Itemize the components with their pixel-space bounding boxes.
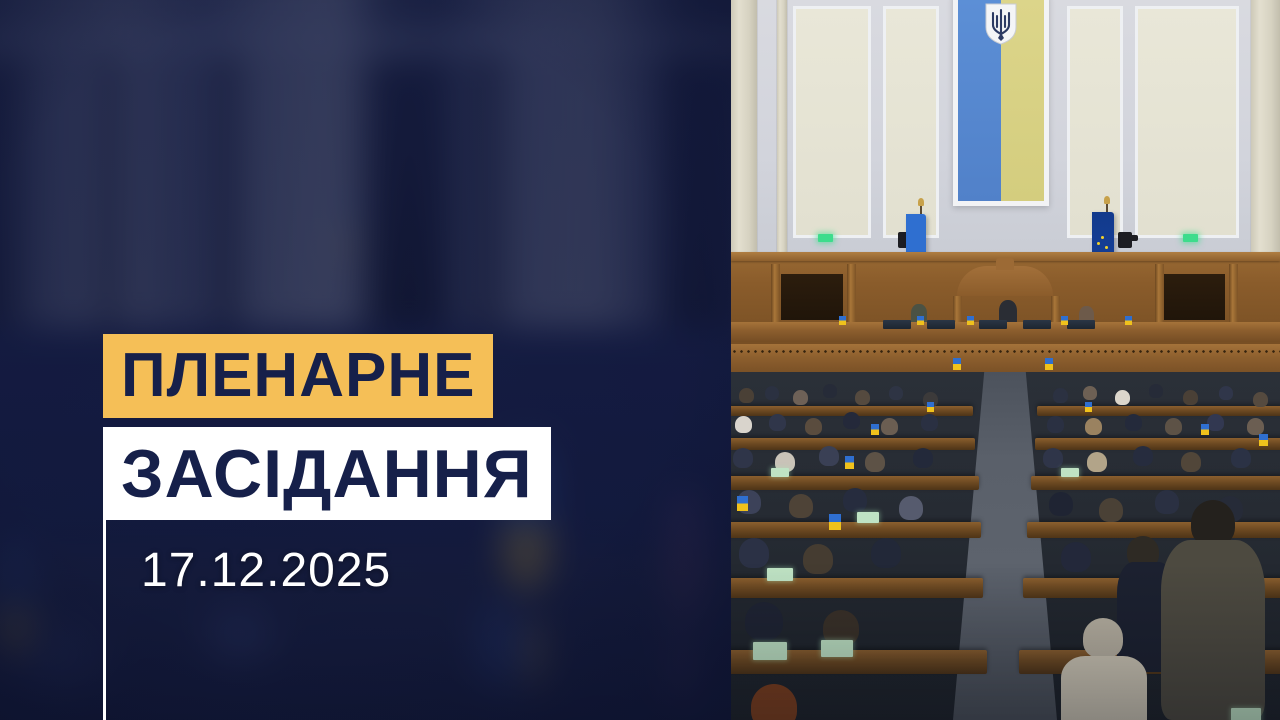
flag-finial [1104, 196, 1110, 204]
deputy-body [1061, 656, 1147, 720]
deputy [1125, 414, 1142, 431]
deputy [921, 414, 938, 431]
camera-icon [1118, 232, 1132, 248]
wall-pilaster [777, 0, 787, 258]
deputy [881, 418, 898, 435]
deputy [739, 388, 754, 403]
deputy [1183, 390, 1198, 405]
deputy-body [1161, 540, 1265, 720]
wall-panel [1067, 6, 1123, 238]
deputy [1049, 492, 1073, 516]
desk-mini-flag [829, 514, 841, 530]
deputy [1149, 384, 1163, 398]
deputy [769, 414, 786, 431]
deputy [865, 452, 885, 472]
deputy [1047, 416, 1064, 433]
deputy [1083, 618, 1123, 658]
desk-mini-flag [927, 402, 934, 412]
deputy [735, 416, 752, 433]
deputy [871, 538, 901, 568]
rostrum-arch [957, 266, 1053, 296]
deputy [855, 390, 870, 405]
desk-screen [1231, 708, 1261, 720]
deputy [1207, 414, 1224, 431]
deputy [1053, 388, 1068, 403]
desk-monitor [1023, 320, 1051, 329]
rostrum-column [1229, 264, 1238, 324]
wall-pilaster [1251, 0, 1280, 258]
deputy [1043, 448, 1063, 468]
deputy [843, 488, 867, 512]
rostrum-woodwork [731, 252, 1280, 377]
deputy [751, 684, 797, 720]
wall-panel [793, 6, 871, 238]
desk-mini-flag [1201, 424, 1209, 435]
desk-mini-flag [967, 316, 974, 325]
left-blurred-hall-image [0, 0, 731, 720]
desk-mini-flag [1061, 316, 1068, 325]
title-card: ПЛЕНАРНЕ ЗАСІДАННЯ 17.12.2025 [0, 0, 1280, 720]
deputy [843, 412, 860, 429]
deputy [1247, 418, 1264, 435]
deputy [739, 538, 769, 568]
deputy [1085, 418, 1102, 435]
rostrum-column [1155, 264, 1164, 324]
deputy [823, 384, 837, 398]
rostrum-bay [1163, 274, 1225, 320]
desk-monitor [927, 320, 955, 329]
bench-row [1027, 522, 1280, 538]
wall-panel [883, 6, 939, 238]
vignette-overlay [0, 0, 731, 720]
desk-mini-flag [917, 316, 924, 325]
deputy [733, 448, 753, 468]
deputy [1181, 452, 1201, 472]
deputy [1155, 490, 1179, 514]
desk-mini-flag [871, 424, 879, 435]
arch-keystone [996, 258, 1014, 270]
right-chamber-image [731, 0, 1280, 720]
wall-pilaster [731, 0, 757, 258]
desk-mini-flag [845, 456, 854, 469]
deputy [1099, 498, 1123, 522]
desk-screen [857, 512, 879, 523]
bench-row [731, 438, 975, 450]
bench-row [731, 578, 983, 598]
deputy [1133, 446, 1153, 466]
deputy [803, 544, 833, 574]
desk-mini-flag [1125, 316, 1132, 325]
deputy [1061, 542, 1091, 572]
desk-screen [771, 468, 789, 477]
deputy [899, 496, 923, 520]
deputy [789, 494, 813, 518]
bench-row [731, 522, 981, 538]
exit-sign-icon [818, 234, 833, 242]
deputy [1219, 386, 1233, 400]
exit-sign-icon [1183, 234, 1198, 242]
deputy [805, 418, 822, 435]
desk-mini-flag [953, 358, 961, 370]
desk-monitor [883, 320, 911, 329]
deputy [745, 602, 783, 640]
deputy [889, 386, 903, 400]
ukraine-vertical-flag-banner [953, 0, 1049, 206]
deputy [1231, 448, 1251, 468]
deputy [1115, 390, 1130, 405]
deputy [913, 448, 933, 468]
desk-monitor [979, 320, 1007, 329]
rostrum-bay [781, 274, 843, 320]
ukraine-trident-icon [984, 3, 1018, 45]
desk-mini-flag [1045, 358, 1053, 370]
wall-panel [1135, 6, 1239, 238]
bench-row [1037, 406, 1280, 416]
rostrum-column [847, 264, 856, 324]
rostrum-column [771, 264, 780, 324]
desk-screen [753, 642, 787, 660]
deputy [765, 386, 779, 400]
balustrade-detail [731, 349, 1280, 354]
desk-mini-flag [839, 316, 846, 325]
desk-screen [1061, 468, 1079, 477]
desk-screen [821, 640, 853, 657]
deputy [793, 390, 808, 405]
deputy [819, 446, 839, 466]
desk-mini-flag [1085, 402, 1092, 412]
deputy [1253, 392, 1268, 407]
flag-finial [918, 198, 924, 206]
bench-row [1031, 476, 1280, 490]
chamber-seating [731, 372, 1280, 720]
deputy [1083, 386, 1097, 400]
deputy [1087, 452, 1107, 472]
desk-screen [767, 568, 793, 581]
desk-mini-flag [1259, 434, 1268, 446]
deputy [1165, 418, 1182, 435]
desk-monitor [1067, 320, 1095, 329]
desk-mini-flag [737, 496, 748, 511]
